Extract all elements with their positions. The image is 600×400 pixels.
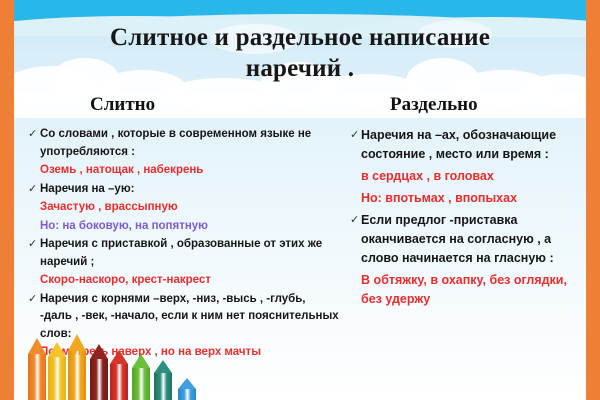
pencil-barrel <box>154 373 172 400</box>
slide-page: Слитное и раздельное написание наречий .… <box>14 0 586 400</box>
note-example-text: Но: на боковую, на попятную <box>28 218 340 236</box>
check-icon: ✓ <box>28 236 37 254</box>
check-icon: ✓ <box>28 181 37 199</box>
pencil-barrel <box>90 359 108 400</box>
list-item: Посмотреть наверх , но на верх мачты <box>28 344 340 362</box>
rule-label: Со словами , которые в современном языке… <box>40 128 311 158</box>
rule-text: ✓Наречия на –ах, обозначающие состояние … <box>350 126 586 164</box>
column-slitno: ✓Со словами , которые в современном язык… <box>28 126 340 363</box>
list-item: Но: на боковую, на попятную <box>28 218 340 236</box>
example-text: Оземь , натощак , набекрень <box>28 162 340 180</box>
left-orange-border <box>0 0 14 400</box>
list-item: ✓Наречия на –ах, обозначающие состояние … <box>350 126 586 164</box>
list-item: Но: впотьмах , впопыхах <box>350 189 586 208</box>
pencil-barrel <box>48 357 66 400</box>
pencil-blue <box>178 378 196 400</box>
list-item: ✓Если предлог -приставка оканчивается на… <box>350 211 586 268</box>
pencil-tip <box>178 378 196 389</box>
rule-label: Наречия на –ую: <box>40 183 134 195</box>
right-orange-border <box>586 0 600 400</box>
example-text: Но: впотьмах , впопыхах <box>350 189 586 208</box>
pencil-barrel <box>178 389 196 400</box>
slide-root: Слитное и раздельное написание наречий .… <box>0 0 600 400</box>
example-text: Посмотреть наверх , но на верх мачты <box>28 344 340 362</box>
example-text: в сердцах , в головах <box>350 167 586 186</box>
column-razdelno: ✓Наречия на –ах, обозначающие состояние … <box>350 126 586 312</box>
list-item: ✓Наречия на –ую: <box>28 181 340 199</box>
list-item: Зачастую , врассыпную <box>28 199 340 217</box>
title-line-1: Слитное и раздельное написание <box>110 24 490 51</box>
list-item: ✓Со словами , которые в современном язык… <box>28 126 340 161</box>
list-item: ✓Наречия с корнями –верх, -низ, -высь , … <box>28 291 340 344</box>
list-item: Скоро-наскоро, крест-накрест <box>28 272 340 290</box>
check-icon: ✓ <box>350 126 359 145</box>
rule-text: ✓Наречия на –ую: <box>28 181 340 199</box>
pencil-barrel <box>110 364 128 400</box>
rule-text: ✓Если предлог -приставка оканчивается на… <box>350 211 586 268</box>
rule-label: Наречия с корнями –верх, -низ, -высь , -… <box>40 293 339 340</box>
rule-label: Наречия на –ах, обозначающие состояние ,… <box>361 128 556 161</box>
pencil-barrel <box>132 368 150 400</box>
list-item: Оземь , натощак , набекрень <box>28 162 340 180</box>
rule-text: ✓Со словами , которые в современном язык… <box>28 126 340 161</box>
title-line-2: наречий . <box>14 53 586 84</box>
list-item: В обтяжку, в охапку, без оглядки, без уд… <box>350 271 586 309</box>
rule-label: Наречия с приставкой , образованные от э… <box>40 238 322 268</box>
list-item: ✓ Наречия с приставкой , образованные от… <box>28 236 340 271</box>
slide-title: Слитное и раздельное написание наречий . <box>14 22 586 84</box>
rule-label: Если предлог -приставка оканчивается на … <box>361 213 554 265</box>
rule-text: ✓Наречия с корнями –верх, -низ, -высь , … <box>28 291 340 344</box>
check-icon: ✓ <box>350 211 359 230</box>
column-header-slitno: Слитно <box>90 94 155 116</box>
example-text: Зачастую , врассыпную <box>28 199 340 217</box>
list-item: в сердцах , в головах <box>350 167 586 186</box>
example-text: Скоро-наскоро, крест-накрест <box>28 272 340 290</box>
pencil-teal <box>154 360 172 400</box>
check-icon: ✓ <box>28 126 37 144</box>
column-header-razdelno: Раздельно <box>390 94 478 116</box>
rule-text: ✓ Наречия с приставкой , образованные от… <box>28 236 340 271</box>
example-text: В обтяжку, в охапку, без оглядки, без уд… <box>350 271 586 309</box>
check-icon: ✓ <box>28 291 37 309</box>
